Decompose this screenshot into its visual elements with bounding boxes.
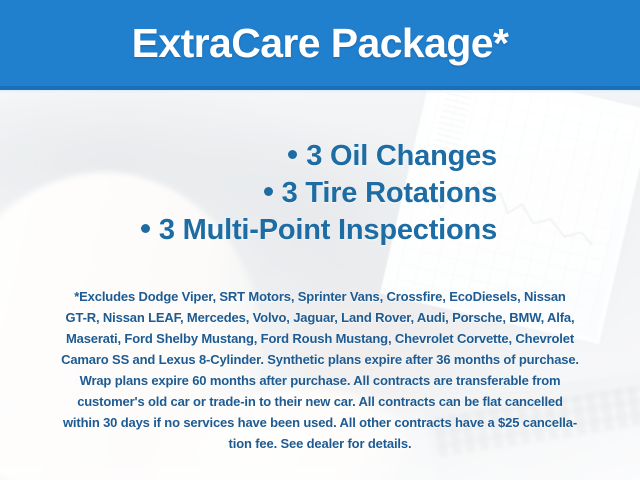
- disclaimer-line: Wrap plans expire 60 months after purcha…: [20, 370, 620, 391]
- list-item: 3 Oil Changes: [0, 138, 497, 175]
- disclaimer-line: Maserati, Ford Shelby Mustang, Ford Rous…: [20, 328, 620, 349]
- bullet-dot-icon: [264, 187, 273, 196]
- extracare-package-poster: ExtraCare Package* 3 Oil Changes 3 Tire …: [0, 0, 640, 480]
- disclaimer-line: within 30 days if no services have been …: [20, 412, 620, 433]
- disclaimer-text: *Excludes Dodge Viper, SRT Motors, Sprin…: [20, 286, 620, 454]
- bullet-dot-icon: [141, 224, 150, 233]
- benefit-label: 3 Multi-Point Inspections: [159, 214, 497, 246]
- disclaimer-line: tion fee. See dealer for details.: [20, 433, 620, 454]
- page-title: ExtraCare Package*: [0, 14, 640, 72]
- bullet-dot-icon: [288, 150, 297, 159]
- header-band-glow: [0, 90, 640, 93]
- benefit-label: 3 Tire Rotations: [282, 177, 497, 209]
- disclaimer-line: Camaro SS and Lexus 8-Cylinder. Syntheti…: [20, 349, 620, 370]
- disclaimer-line: customer's old car or trade-in to their …: [20, 391, 620, 412]
- disclaimer-line: GT-R, Nissan LEAF, Mercedes, Volvo, Jagu…: [20, 307, 620, 328]
- list-item: 3 Multi-Point Inspections: [0, 212, 497, 249]
- list-item: 3 Tire Rotations: [0, 175, 497, 212]
- benefit-label: 3 Oil Changes: [306, 140, 497, 172]
- disclaimer-line: *Excludes Dodge Viper, SRT Motors, Sprin…: [20, 286, 620, 307]
- benefits-list: 3 Oil Changes 3 Tire Rotations 3 Multi-P…: [0, 138, 497, 249]
